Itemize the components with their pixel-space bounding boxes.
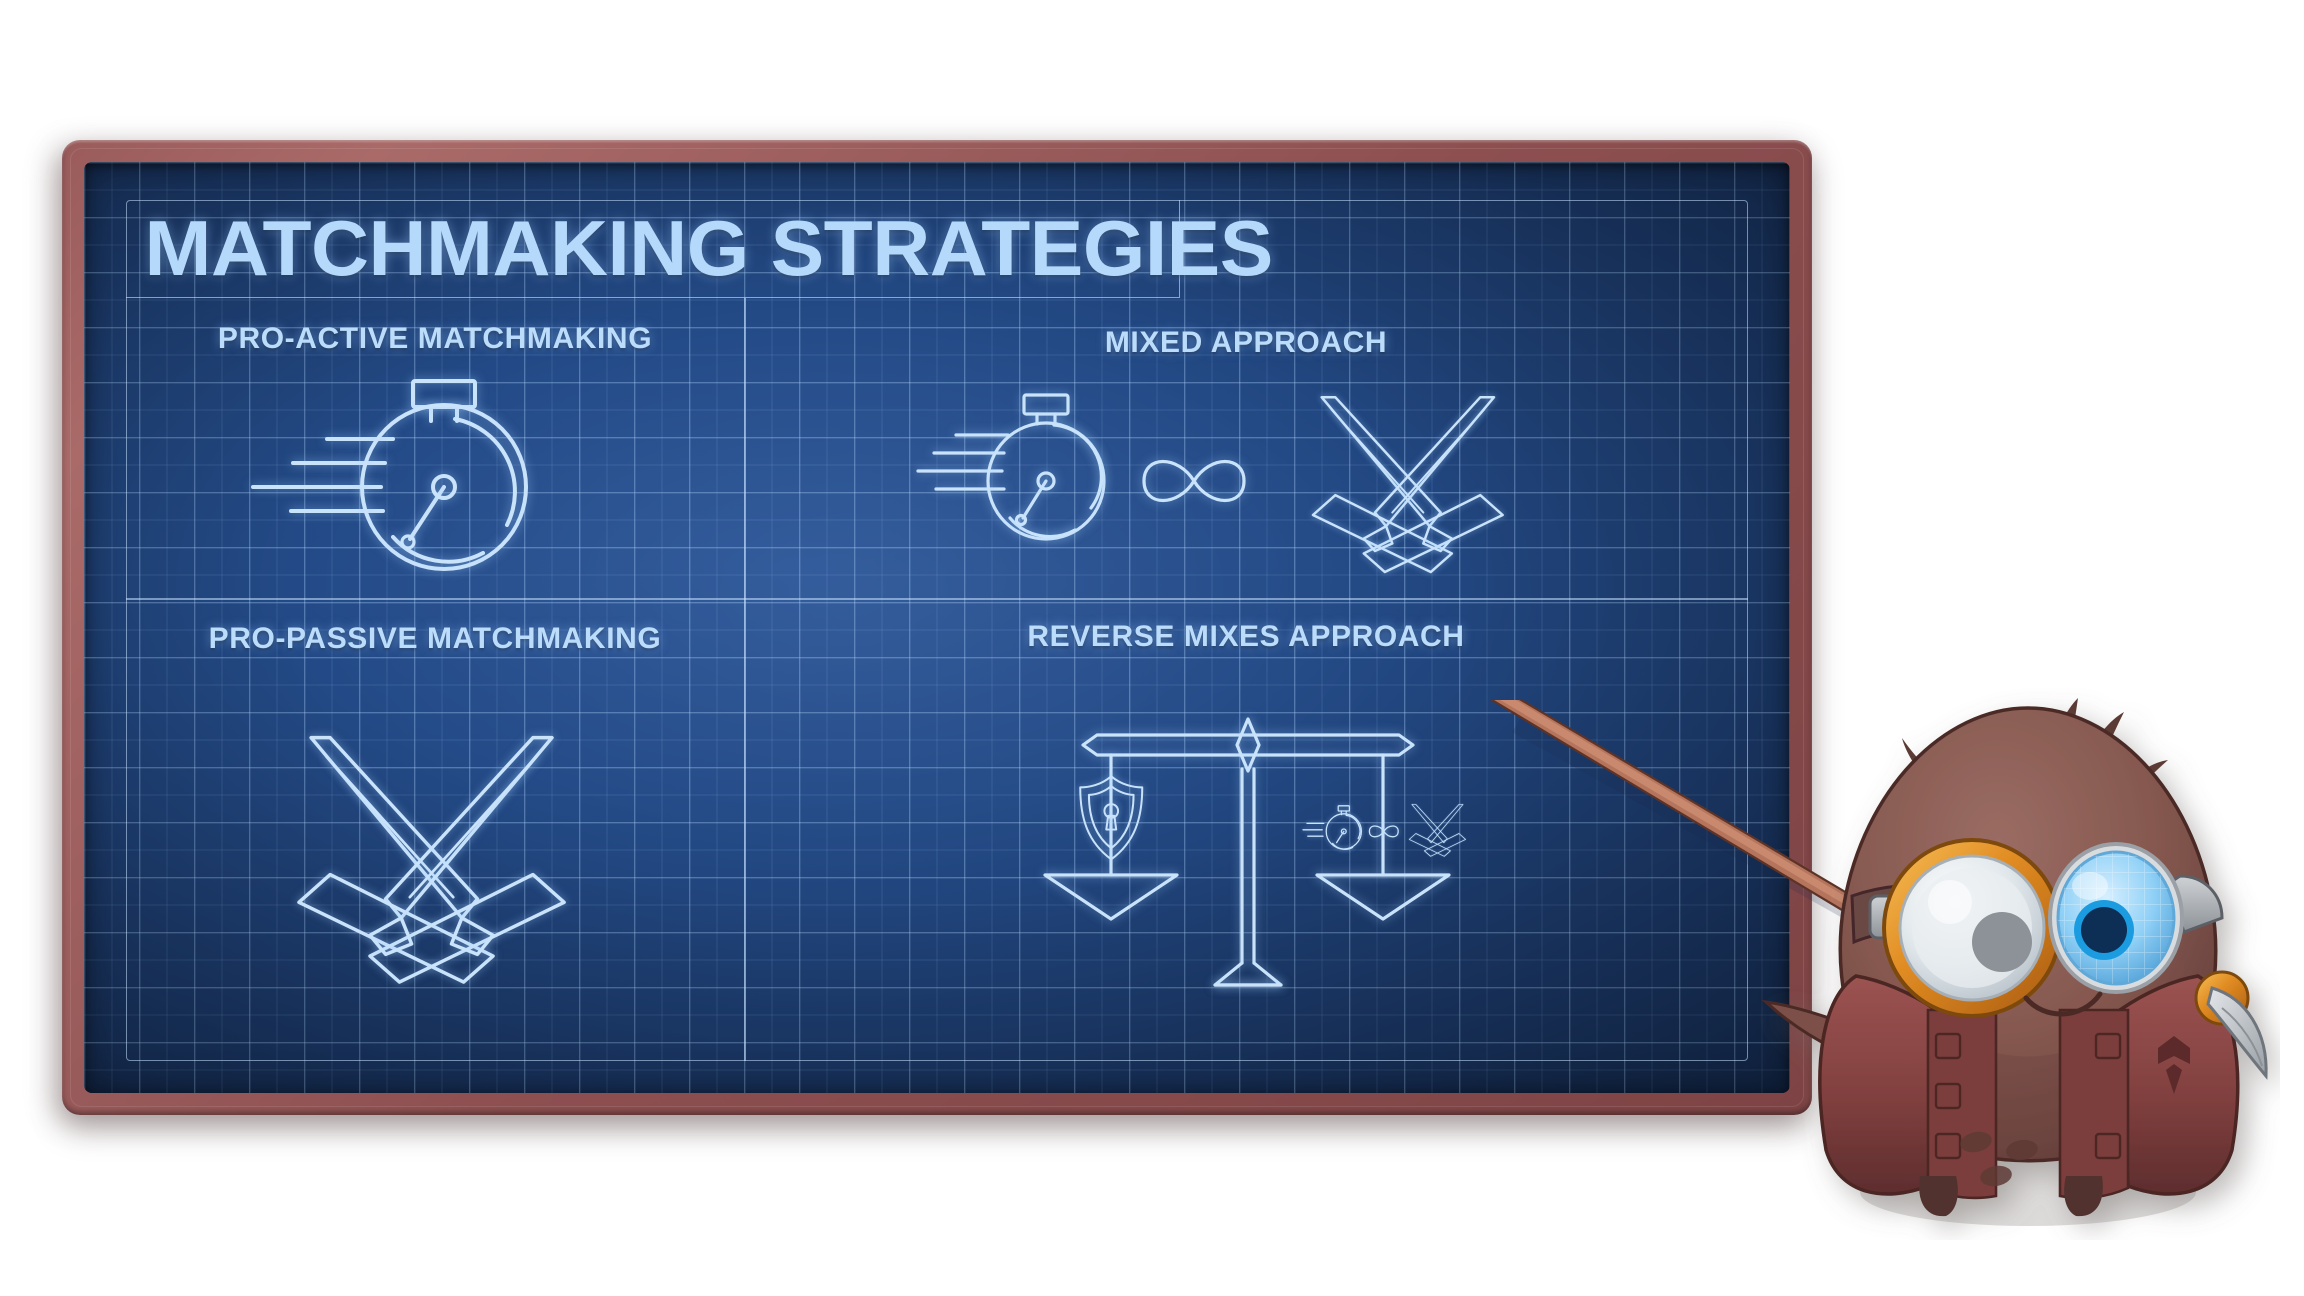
goggled-creature-mascot[interactable] <box>1760 680 2280 1240</box>
stopwatch-with-speed-lines-group <box>245 377 625 577</box>
quadrant-art-mixed <box>744 360 1748 598</box>
lens-left-glint <box>1928 880 1972 924</box>
quadrant-pro-active[interactable]: PRO-ACTIVE MATCHMAKING <box>126 298 744 598</box>
board-title-box: MATCHMAKING STRATEGIES <box>126 200 1180 298</box>
balance-scale-icon <box>1045 719 1449 985</box>
goggle-right <box>2050 844 2182 992</box>
quadrant-art-pro-active <box>126 356 744 598</box>
quadrant-mixed[interactable]: MIXED APPROACH <box>744 298 1748 598</box>
mascot-area <box>1400 700 2300 1296</box>
quadrant-pro-passive[interactable]: PRO-PASSIVE MATCHMAKING <box>126 598 744 1061</box>
infinity-icon <box>1144 462 1244 501</box>
mascot-cloak-left <box>1820 976 1936 1194</box>
stopwatch-icon <box>988 395 1104 539</box>
crossed-swords-icon <box>299 737 564 981</box>
quadrant-label-pro-passive: PRO-PASSIVE MATCHMAKING <box>209 622 662 656</box>
goggle-left <box>1884 840 2060 1016</box>
screenshot-root: MATCHMAKING STRATEGIES PRO-ACTIVE MATCHM… <box>0 0 2304 1296</box>
mixed-approach-group <box>916 389 1576 569</box>
pupil-left <box>1972 912 2032 972</box>
mascot-figure <box>1766 698 2266 1216</box>
quadrant-label-pro-active: PRO-ACTIVE MATCHMAKING <box>218 322 652 356</box>
mascot-cloak-flap-right <box>2060 1010 2128 1198</box>
quadrant-label-mixed: MIXED APPROACH <box>1105 326 1387 360</box>
stopwatch-icon <box>362 381 526 569</box>
quadrant-art-pro-passive <box>126 656 744 1061</box>
quadrant-label-reverse-mixes: REVERSE MIXES APPROACH <box>1027 620 1464 654</box>
speed-lines-icon <box>1303 823 1324 836</box>
crossed-swords-icon <box>1313 397 1503 572</box>
stopwatch-icon <box>1326 805 1361 849</box>
page-title: MATCHMAKING STRATEGIES <box>126 203 1273 294</box>
lens-right-glint <box>2072 872 2108 900</box>
pupil-right <box>2081 907 2127 953</box>
crossed-swords-group <box>285 729 585 989</box>
speed-lines-icon <box>918 435 1008 489</box>
